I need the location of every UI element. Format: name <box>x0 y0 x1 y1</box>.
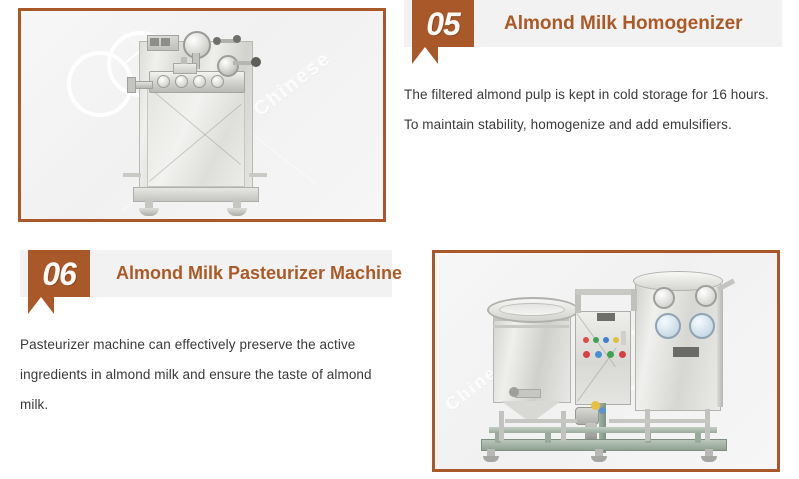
section-05-number: 05 <box>412 0 474 47</box>
section-06-badge-tail <box>28 297 54 314</box>
section-06-header: 06 Almond Milk Pasteurizer Machine <box>20 250 392 297</box>
homogenizer-machine-illustration <box>121 23 271 218</box>
pasteurizer-photo: C Chinese <box>435 253 777 469</box>
homogenizer-photo: Chinese <box>21 11 383 219</box>
section-05-badge-tail <box>412 47 438 64</box>
section-05-body: The filtered almond pulp is kept in cold… <box>404 80 776 140</box>
section-05-title: Almond Milk Homogenizer <box>504 0 743 47</box>
section-06-body: Pasteurizer machine can effectively pres… <box>20 330 388 420</box>
section-06-title: Almond Milk Pasteurizer Machine <box>116 250 402 297</box>
section-06-badge: 06 <box>28 250 90 297</box>
section-05-badge: 05 <box>412 0 474 47</box>
pasteurizer-machine-illustration <box>459 261 739 466</box>
pasteurizer-photo-frame: C Chinese <box>432 250 780 472</box>
homogenizer-photo-frame: Chinese <box>18 8 386 222</box>
section-05-header: 05 Almond Milk Homogenizer <box>404 0 782 47</box>
section-06-number: 06 <box>28 250 90 297</box>
